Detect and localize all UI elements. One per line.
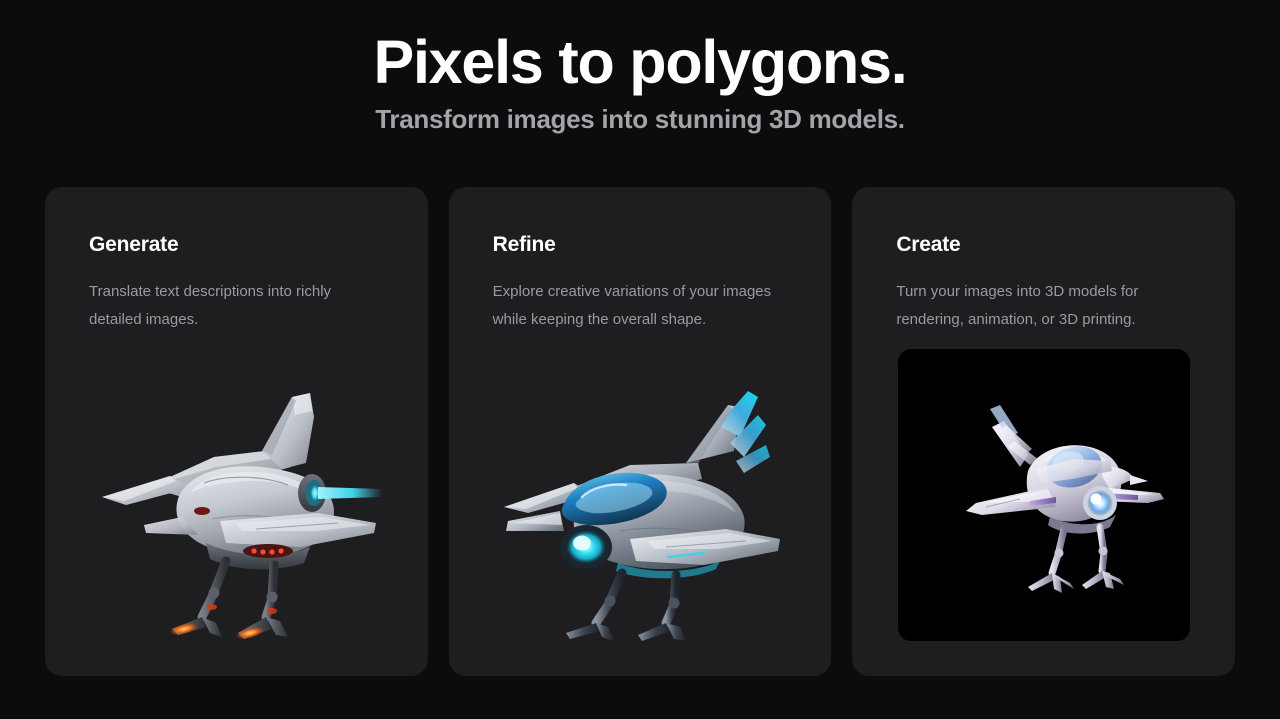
card-description-refine: Explore creative variations of your imag… bbox=[493, 278, 788, 334]
landing-page: Pixels to polygons. Transform images int… bbox=[0, 0, 1280, 719]
card-media-viewport-create[interactable] bbox=[898, 349, 1190, 641]
feature-card-grid: Generate Translate text descriptions int… bbox=[45, 187, 1235, 676]
card-description-create: Turn your images into 3D models for rend… bbox=[896, 278, 1191, 334]
card-title-create: Create bbox=[896, 233, 1191, 257]
feature-card-refine[interactable]: Refine Explore creative variations of yo… bbox=[449, 187, 832, 676]
page-title: Pixels to polygons. bbox=[0, 30, 1280, 96]
feature-card-generate[interactable]: Generate Translate text descriptions int… bbox=[45, 187, 428, 676]
page-subtitle: Transform images into stunning 3D models… bbox=[0, 104, 1280, 135]
card-media-generate bbox=[45, 335, 428, 676]
card-title-refine: Refine bbox=[493, 233, 788, 257]
hero-section: Pixels to polygons. Transform images int… bbox=[0, 0, 1280, 135]
feature-card-create[interactable]: Create Turn your images into 3D models f… bbox=[852, 187, 1235, 676]
card-description-generate: Translate text descriptions into richly … bbox=[89, 278, 384, 334]
blue-bird-craft-render bbox=[490, 371, 790, 641]
white-bird-craft-3d-model bbox=[924, 375, 1164, 615]
card-title-generate: Generate bbox=[89, 233, 384, 257]
silver-bird-craft-render bbox=[86, 371, 386, 641]
card-media-refine bbox=[449, 335, 832, 676]
